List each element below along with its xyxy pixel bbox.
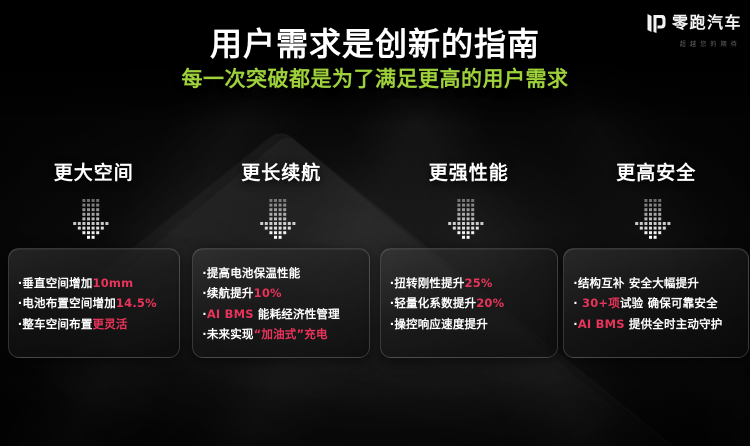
highlight-text: 14.5% — [116, 296, 157, 310]
pillar-arrow-3 — [439, 199, 499, 240]
card-4-bullet-1: ·结构互补 安全大幅提升 — [573, 276, 739, 290]
bullet-text: · — [573, 296, 582, 310]
pillar-card-slot-1: ·垂直空间增加10mm·电池布置空间增加14.5%·整车空间布置更灵活 — [0, 248, 188, 358]
pillar-title-2: 更长续航 — [241, 158, 321, 185]
bullet-text: ·垂直空间增加 — [18, 276, 93, 290]
pillar-cards: ·垂直空间增加10mm·电池布置空间增加14.5%·整车空间布置更灵活·提高电池… — [0, 248, 750, 358]
pillar-card-2[interactable]: ·提高电池保温性能·续航提升10%·AI BMS 能耗经济性管理·未来实现“加油… — [192, 248, 370, 358]
highlight-text: 20% — [476, 296, 504, 310]
bullet-text: ·电池布置空间增加 — [18, 296, 116, 310]
highlight-text: 10% — [254, 286, 282, 300]
pillar-card-slot-2: ·提高电池保温性能·续航提升10%·AI BMS 能耗经济性管理·未来实现“加油… — [188, 248, 376, 358]
bullet-text: ·未来实现 — [202, 327, 253, 341]
highlight-text: AI BMS — [207, 307, 254, 321]
card-2-bullet-1: ·提高电池保温性能 — [202, 266, 360, 280]
bullet-text: ·提高电池保温性能 — [202, 266, 300, 280]
card-4-bullet-2: · 30+项试验 确保可靠安全 — [573, 296, 739, 310]
bullet-text: ·结构互补 安全大幅提升 — [573, 276, 699, 290]
pillar-card-slot-4: ·结构互补 安全大幅提升· 30+项试验 确保可靠安全·AI BMS 提供全时主… — [563, 248, 750, 358]
card-2-bullet-3: ·AI BMS 能耗经济性管理 — [202, 307, 360, 321]
pillar-title-4: 更高安全 — [616, 158, 696, 185]
highlight-text: 10mm — [93, 276, 134, 290]
dotted-down-arrow-icon — [64, 199, 124, 240]
pillar-title-1: 更大空间 — [54, 158, 134, 185]
pillar-card-1[interactable]: ·垂直空间增加10mm·电池布置空间增加14.5%·整车空间布置更灵活 — [8, 248, 180, 358]
dotted-down-arrow-icon — [626, 199, 686, 240]
highlight-text: 25% — [465, 276, 493, 290]
pillar-arrow-1 — [64, 199, 124, 240]
pillar-arrow-4 — [626, 199, 686, 240]
bullet-text: 试验 确保可靠安全 — [620, 296, 718, 310]
card-3-bullet-1: ·扭转刚性提升25% — [390, 276, 548, 290]
pillar-arrow-2 — [251, 199, 311, 240]
highlight-text: 30+项 — [582, 296, 620, 310]
highlight-text: 更灵活 — [93, 317, 128, 331]
bullet-text: ·整车空间布置 — [18, 317, 93, 331]
pillar-card-slot-3: ·扭转刚性提升25%·轻量化系数提升20%·操控响应速度提升 — [375, 248, 563, 358]
bullet-text: 能耗经济性管理 — [254, 307, 340, 321]
bullet-text: ·操控响应速度提升 — [390, 317, 488, 331]
pillar-card-3[interactable]: ·扭转刚性提升25%·轻量化系数提升20%·操控响应速度提升 — [380, 248, 558, 358]
headline-title: 用户需求是创新的指南 — [0, 26, 750, 64]
bullet-text: 提供全时主动守护 — [625, 317, 723, 331]
card-3-bullet-2: ·轻量化系数提升20% — [390, 296, 548, 310]
headline-block: 用户需求是创新的指南 每一次突破都是为了满足更高的用户需求 — [0, 26, 750, 93]
highlight-text: AI BMS — [578, 317, 625, 331]
bullet-text: ·扭转刚性提升 — [390, 276, 465, 290]
card-2-bullet-2: ·续航提升10% — [202, 286, 360, 300]
card-1-bullet-3: ·整车空间布置更灵活 — [18, 317, 170, 331]
dotted-down-arrow-icon — [439, 199, 499, 240]
card-4-bullet-3: ·AI BMS 提供全时主动守护 — [573, 317, 739, 331]
dotted-down-arrow-icon — [251, 199, 311, 240]
card-1-bullet-2: ·电池布置空间增加14.5% — [18, 296, 170, 310]
headline-subtitle: 每一次突破都是为了满足更高的用户需求 — [0, 66, 750, 93]
card-2-bullet-4: ·未来实现“加油式”充电 — [202, 327, 360, 341]
bullet-text: ·轻量化系数提升 — [390, 296, 476, 310]
highlight-text: “加油式”充电 — [254, 327, 328, 341]
card-3-bullet-3: ·操控响应速度提升 — [390, 317, 548, 331]
pillar-title-3: 更强性能 — [429, 158, 509, 185]
bullet-text: ·续航提升 — [202, 286, 253, 300]
pillar-card-4[interactable]: ·结构互补 安全大幅提升· 30+项试验 确保可靠安全·AI BMS 提供全时主… — [563, 248, 749, 358]
card-1-bullet-1: ·垂直空间增加10mm — [18, 276, 170, 290]
